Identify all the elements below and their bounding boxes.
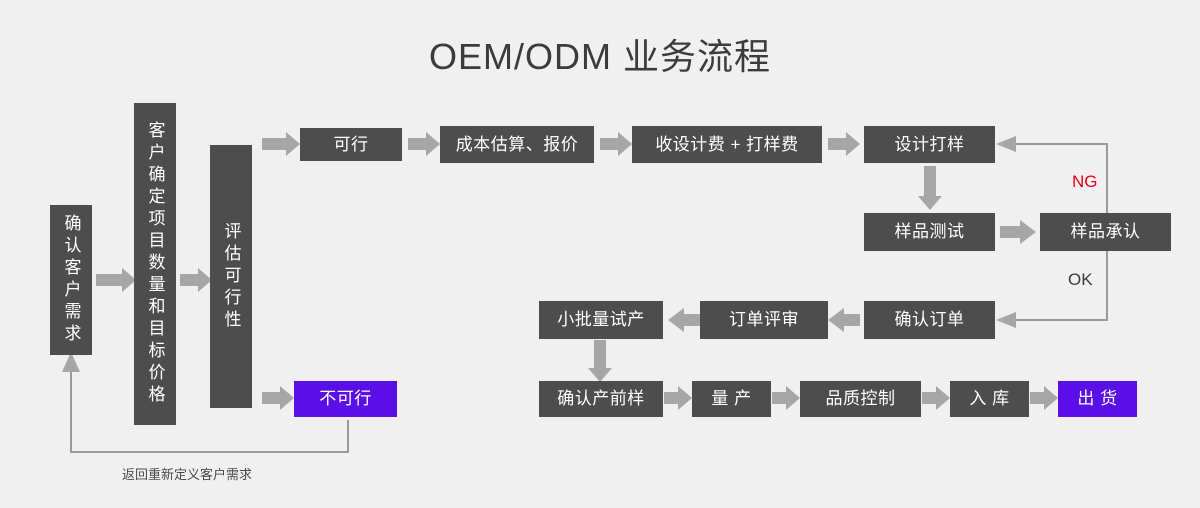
arrow-order-to-review — [828, 308, 860, 332]
node-confirm-order[interactable]: 确认订单 — [864, 301, 995, 339]
page-title: OEM/ODM 业务流程 — [0, 28, 1200, 80]
arrowhead-ng-into-design — [996, 136, 1016, 152]
arrow-warehouse-to-shipment — [1030, 386, 1058, 410]
node-cost-estimate[interactable]: 成本估算、报价 — [440, 126, 594, 163]
node-sample-approval[interactable]: 样品承认 — [1040, 213, 1171, 251]
label-ng: NG — [1072, 172, 1098, 192]
arrow-define-to-evaluate — [180, 268, 212, 292]
node-customer-define[interactable]: 客户确定项目数量和目标价格 — [134, 103, 176, 425]
arrow-evaluate-to-feasible — [262, 132, 300, 156]
label-return-caption: 返回重新定义客户需求 — [122, 464, 252, 483]
arrow-presample-to-mass — [664, 386, 692, 410]
node-design-sample-fee[interactable]: 收设计费 + 打样费 — [632, 126, 822, 163]
node-order-review[interactable]: 订单评审 — [700, 301, 828, 339]
node-evaluate-feasibility[interactable]: 评估可行性 — [210, 145, 252, 408]
node-not-feasible[interactable]: 不可行 — [294, 381, 397, 417]
node-confirm-customer-need[interactable]: 确认客户需求 — [50, 205, 92, 355]
arrowhead-ok-into-order — [996, 312, 1016, 328]
node-quality-control[interactable]: 品质控制 — [800, 381, 921, 417]
label-ok: OK — [1068, 270, 1093, 290]
arrowhead-return-into-need — [62, 352, 80, 372]
node-small-batch-trial[interactable]: 小批量试产 — [539, 301, 663, 339]
arrow-fee-to-design — [828, 132, 860, 156]
node-confirm-preproduction-sample[interactable]: 确认产前样 — [539, 381, 663, 417]
node-warehousing[interactable]: 入 库 — [950, 381, 1029, 417]
arrow-feasible-to-cost — [408, 132, 440, 156]
node-feasible[interactable]: 可行 — [300, 128, 402, 161]
arrow-cost-to-fee — [600, 132, 632, 156]
arrow-need-to-define — [96, 268, 136, 292]
node-sample-test[interactable]: 样品测试 — [864, 213, 995, 251]
node-shipment[interactable]: 出 货 — [1058, 381, 1137, 417]
arrow-evaluate-to-infeasible — [262, 386, 294, 410]
arrow-test-to-approval — [1000, 220, 1036, 244]
node-mass-production[interactable]: 量 产 — [692, 381, 771, 417]
arrow-mass-to-qc — [772, 386, 800, 410]
arrow-review-to-trial — [668, 308, 700, 332]
arrow-trial-to-presample — [588, 340, 612, 382]
flowchart-canvas: OEM/ODM 业务流程 — [0, 0, 1200, 508]
node-design-sampling[interactable]: 设计打样 — [864, 126, 995, 163]
arrow-design-to-test — [918, 166, 942, 210]
arrow-qc-to-warehouse — [922, 386, 950, 410]
